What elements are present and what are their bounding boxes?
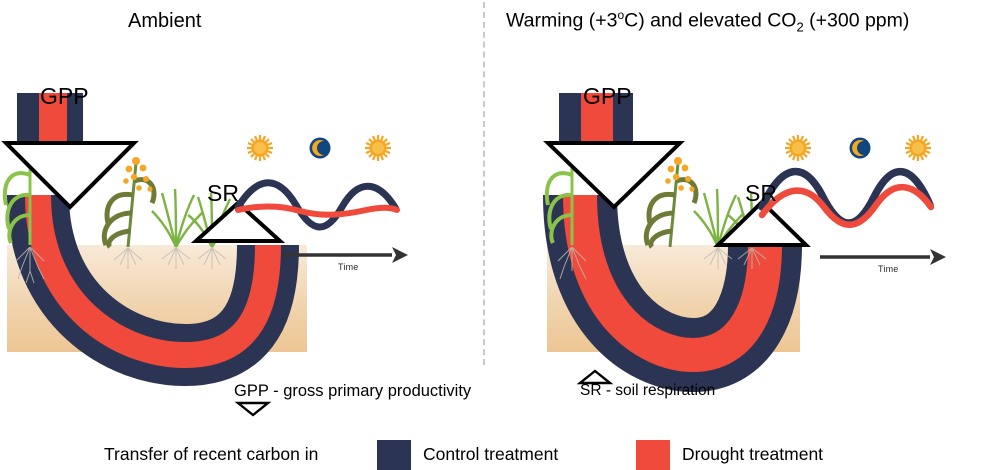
- gpp-label-ambient: GPP: [40, 83, 89, 110]
- legend-sr-definition: SR - soil respiration: [580, 382, 715, 400]
- sun-icon: [785, 135, 811, 161]
- co2-subscript: 2: [796, 19, 803, 34]
- legend-swatch-drought: [636, 440, 670, 470]
- sun-icon: [905, 135, 931, 161]
- sr-wave-control: [762, 172, 930, 224]
- gpp-label-warming: GPP: [583, 83, 632, 110]
- gpp-funnel-legend-icon: [236, 401, 270, 417]
- legend-control-label: Control treatment: [423, 444, 558, 465]
- legend-gpp-definition: GPP - gross primary productivity: [234, 382, 471, 401]
- panel-title-warming: Warming (+3oC) and elevated CO2 (+300 pp…: [506, 8, 909, 34]
- sr-label-ambient: SR: [207, 180, 239, 207]
- title-segment-2: C) and elevated CO: [624, 10, 796, 32]
- sun-icon: [365, 135, 391, 161]
- title-segment-1: Warming (+3: [506, 10, 617, 32]
- moon-icon: [310, 138, 331, 159]
- sr-wave-drought: [238, 206, 397, 214]
- figure-canvas: Ambient Warming (+3oC) and elevated CO2 …: [0, 0, 992, 470]
- legend-transfer-label: Transfer of recent carbon in: [104, 444, 318, 465]
- panel-title-ambient: Ambient: [128, 10, 201, 33]
- moon-icon: [850, 138, 871, 159]
- time-axis-label-warming: Time: [878, 264, 898, 274]
- title-segment-3: (+300 ppm): [804, 10, 910, 32]
- panel-divider: [483, 2, 485, 365]
- legend-drought-label: Drought treatment: [682, 444, 823, 465]
- time-axis-label-ambient: Time: [338, 262, 358, 272]
- sun-icon: [247, 135, 273, 161]
- sr-label-warming: SR: [745, 180, 777, 207]
- plant-flowering-forb: [104, 157, 154, 247]
- plant-grass-tuft-1: [152, 189, 202, 247]
- legend-swatch-control: [377, 440, 411, 470]
- time-arrow: [820, 249, 946, 265]
